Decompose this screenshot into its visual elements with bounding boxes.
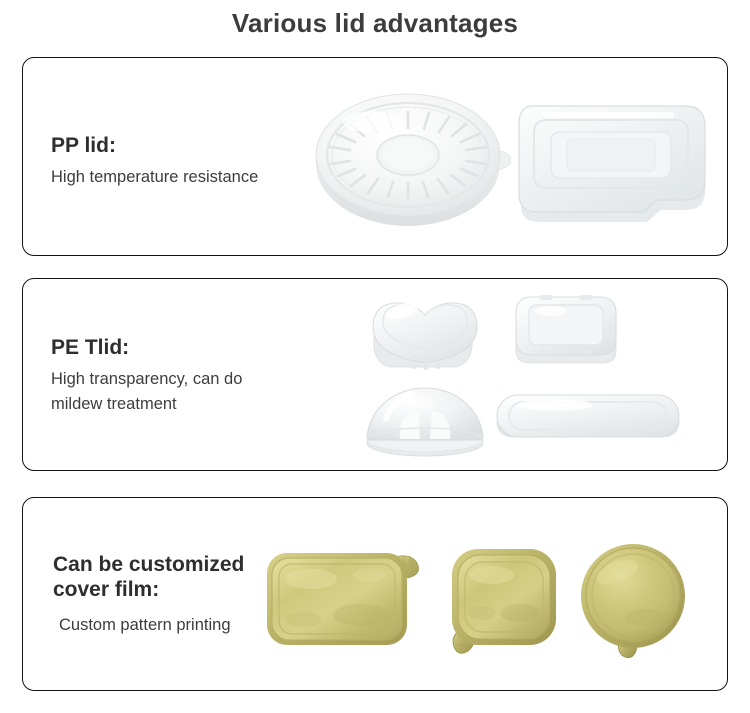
page-title: Various lid advantages [0, 8, 750, 39]
panel-pe-text-block: PE Tlid: High transparency, can do milde… [51, 336, 242, 416]
square-gold-film-image [448, 543, 568, 658]
rectangular-gold-film-image [263, 543, 433, 653]
panel-film-subtext: Custom pattern printing [59, 613, 244, 638]
rectangular-pp-lid-image [503, 84, 713, 229]
panel-film-heading: Can be customized cover film: [53, 553, 244, 603]
panel-pe-lid: PE Tlid: High transparency, can do milde… [22, 278, 728, 471]
oval-pe-lid-image [493, 387, 683, 453]
circular-gold-film-image [575, 540, 700, 660]
panel-pp-text-block: PP lid: High temperature resistance [51, 134, 258, 190]
square-pe-lid-image [506, 287, 626, 377]
panel-pp-subtext: High temperature resistance [51, 165, 258, 190]
round-pp-lid-image [311, 82, 511, 232]
panel-pe-subtext: High transparency, can do mildew treatme… [51, 367, 242, 417]
heart-pe-lid-image [360, 287, 490, 377]
dome-pe-lid-image [360, 379, 490, 459]
panel-cover-film: Can be customized cover film: Custom pat… [22, 497, 728, 691]
panel-pp-heading: PP lid: [51, 134, 258, 159]
panel-pe-heading: PE Tlid: [51, 336, 242, 361]
panel-pp-lid: PP lid: High temperature resistance [22, 57, 728, 256]
panel-film-text-block: Can be customized cover film: Custom pat… [53, 553, 244, 637]
